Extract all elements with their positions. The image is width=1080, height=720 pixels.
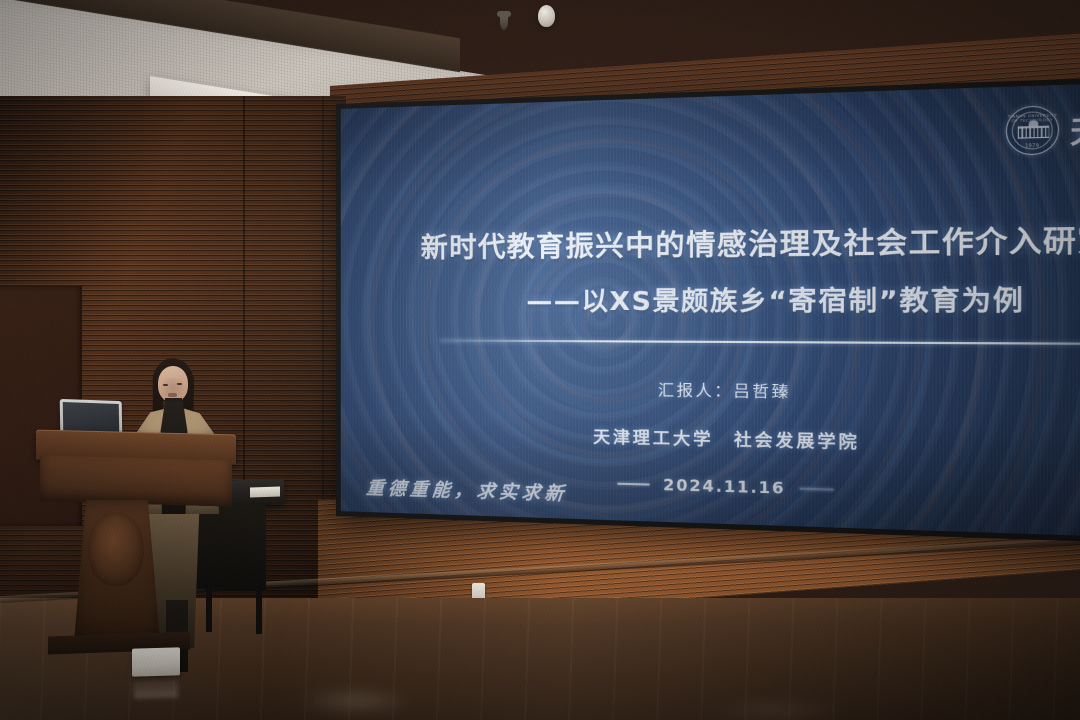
cart-leg [256,590,262,634]
presenter-mouth [168,393,177,397]
wall-seam [243,96,245,516]
lectern-carved-emblem [88,512,144,586]
presenter-eye [177,383,182,385]
presenter-eye [163,384,168,386]
sprinkler-head-icon [500,14,508,30]
equipment-label-sticker [250,486,280,497]
white-box-on-floor [132,647,180,676]
floor-light-reflection [296,688,416,714]
lecture-hall-photo: TIANJIN UNIVERSITY OF TECHNOLOGY 1979 天津… [0,0,1080,720]
lectern-body [40,455,232,506]
wall-seam [322,96,324,526]
av-equipment-cart-body [196,503,266,590]
screen-surface: TIANJIN UNIVERSITY OF TECHNOLOGY 1979 天津… [341,82,1080,538]
led-display-screen: TIANJIN UNIVERSITY OF TECHNOLOGY 1979 天津… [336,76,1080,544]
screen-vignette [341,82,1080,538]
floor-light-reflection [700,700,850,720]
laptop-screen [63,402,120,434]
smoke-detector-icon [538,5,555,27]
cart-leg [206,588,212,632]
white-box-reflection [134,675,178,698]
